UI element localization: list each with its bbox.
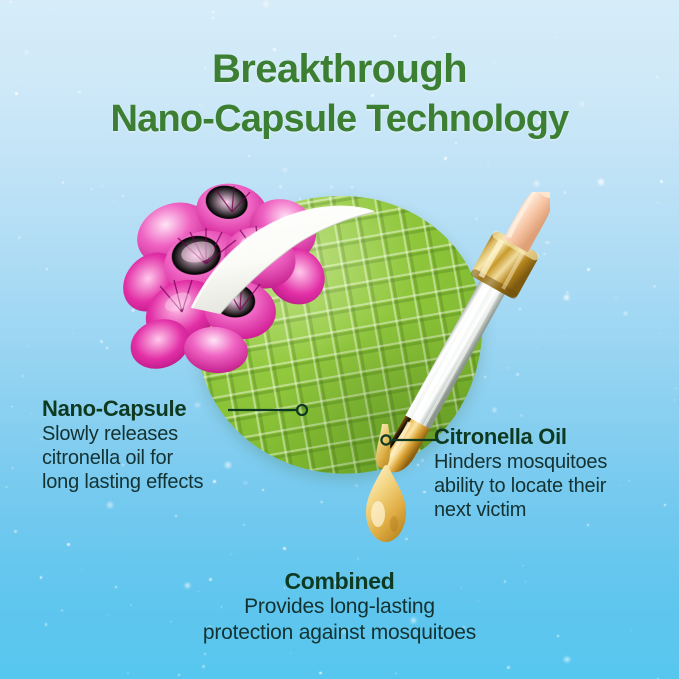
title-line-1: Breakthrough bbox=[0, 44, 679, 94]
callout-nano-capsule: Nano-Capsule Slowly releases citronella … bbox=[42, 396, 203, 494]
callout-nano-line-1: Slowly releases bbox=[42, 422, 203, 446]
callout-citronella-title: Citronella Oil bbox=[434, 424, 607, 450]
callout-nano-line-3: long lasting effects bbox=[42, 470, 203, 494]
callout-combined: Combined Provides long-lasting protectio… bbox=[0, 568, 679, 646]
callout-combined-line-2: protection against mosquitoes bbox=[0, 620, 679, 646]
callout-nano-body: Slowly releases citronella oil for long … bbox=[42, 422, 203, 494]
callout-combined-body: Provides long-lasting protection against… bbox=[0, 594, 679, 646]
callout-combined-title: Combined bbox=[0, 568, 679, 594]
product-infographic: Breakthrough Nano-Capsule Technology bbox=[0, 0, 679, 679]
leader-line-citronella bbox=[380, 430, 440, 455]
page-title: Breakthrough Nano-Capsule Technology bbox=[0, 44, 679, 144]
title-line-2: Nano-Capsule Technology bbox=[0, 94, 679, 144]
callout-combined-line-1: Provides long-lasting bbox=[0, 594, 679, 620]
callout-citronella-body: Hinders mosquitoes ability to locate the… bbox=[434, 450, 607, 522]
callout-citronella-line-1: Hinders mosquitoes bbox=[434, 450, 607, 474]
callout-nano-title: Nano-Capsule bbox=[42, 396, 203, 422]
callout-citronella-line-3: next victim bbox=[434, 498, 607, 522]
callout-citronella-oil: Citronella Oil Hinders mosquitoes abilit… bbox=[434, 424, 607, 522]
callout-citronella-line-2: ability to locate their bbox=[434, 474, 607, 498]
callout-nano-line-2: citronella oil for bbox=[42, 446, 203, 470]
leader-line-nano bbox=[228, 400, 318, 425]
glass-dropper-pipette bbox=[330, 192, 550, 582]
